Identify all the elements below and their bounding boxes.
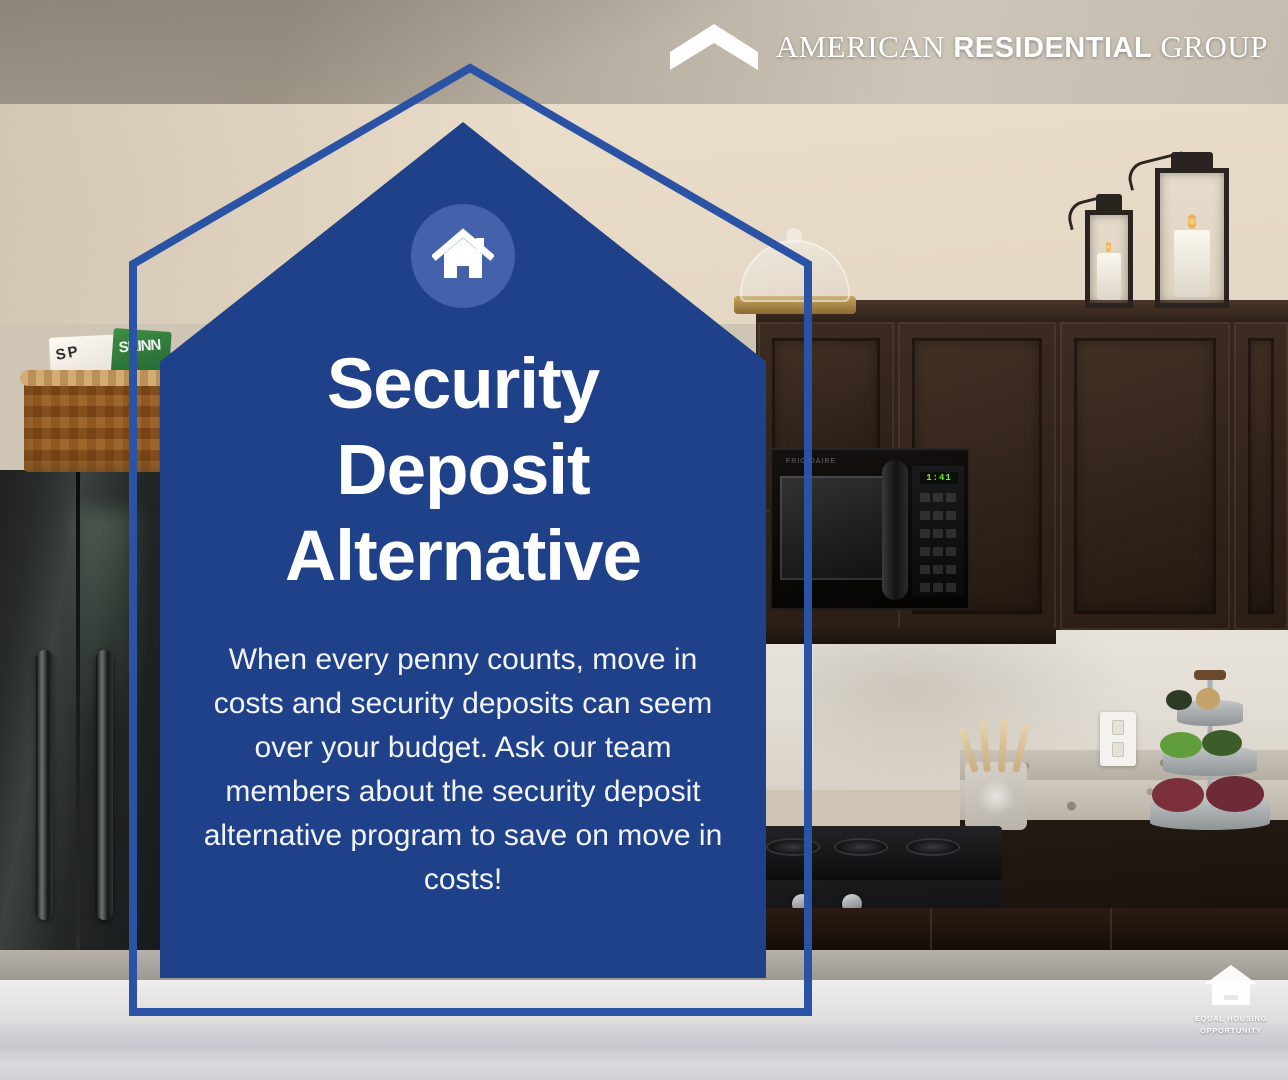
marketing-graphic-canvas: FRIGIDAIRE 1:41 [0,0,1288,1080]
dome-knob [786,228,802,244]
gas-range-cooktop [756,826,1002,882]
stove-burner [906,838,960,856]
headline-line-3: Alternative [193,514,733,600]
eho-line-1: EQUAL HOUSING [1188,1014,1274,1024]
brand-logo: AMERICAN RESIDENTIAL GROUP [670,22,1268,72]
page-title: Security Deposit Alternative [193,342,733,600]
body-paragraph: When every penny counts, move in costs a… [191,638,735,902]
headline-line-1: Security [193,342,733,428]
brand-name-part3: GROUP [1160,29,1268,64]
headline-line-2: Deposit [193,428,733,514]
woven-basket [24,376,168,472]
house-icon [432,228,494,284]
island-counter-top [0,980,1288,1026]
tiered-serving-tray [1150,700,1270,830]
vegetable [1206,776,1264,812]
stove-burner [834,838,888,856]
brand-name-part2: RESIDENTIAL [953,32,1152,64]
stove-burner [766,838,820,856]
fridge-handle [96,650,113,920]
island-counter-face [0,1024,1288,1080]
cabinet-door [1234,322,1288,630]
electrical-outlet [1100,712,1136,766]
refrigerator [0,470,168,1000]
microwave-underside [756,628,1056,644]
lantern-candle-large [1155,168,1229,308]
cabinet-door [1060,322,1230,630]
house-icon-badge [411,204,515,308]
vegetable [1152,778,1204,812]
fridge-handle [36,650,53,920]
equal-housing-opportunity-logo: EQUAL HOUSING OPPORTUNITY [1188,963,1274,1036]
eho-line-2: OPPORTUNITY [1188,1026,1274,1036]
lantern-candle-small [1085,210,1133,308]
over-range-microwave: FRIGIDAIRE 1:41 [770,448,970,610]
vegetable [1166,690,1192,710]
chevron-roof-icon [670,22,758,72]
vegetable [1196,688,1220,710]
equal-housing-house-icon [1203,963,1259,1007]
vegetable [1160,732,1202,758]
brand-name-part1: AMERICAN [776,29,945,64]
vegetable [1202,730,1242,756]
brand-name: AMERICAN RESIDENTIAL GROUP [776,29,1268,65]
